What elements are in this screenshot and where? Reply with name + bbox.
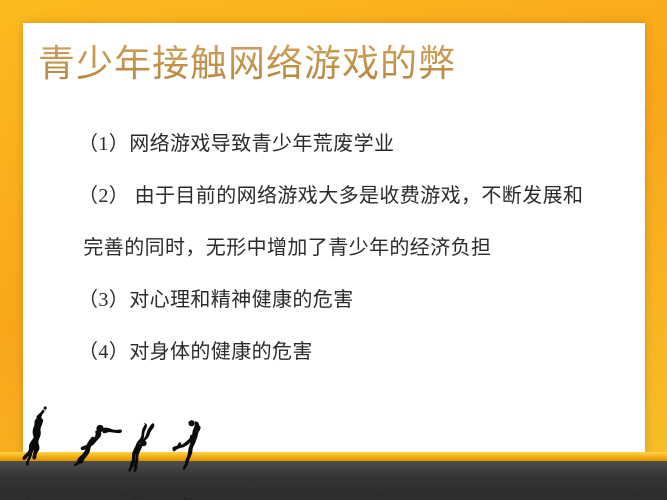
diving-dancer-icon (74, 425, 122, 466)
body-line: （2） 由于目前的网络游戏大多是收费游戏，不断发展和 (78, 170, 638, 222)
kicking-dancer-icon (172, 420, 200, 469)
presentation-slide: 青少年接触网络游戏的弊 （1）网络游戏导致青少年荒废学业 （2） 由于目前的网络… (0, 0, 667, 500)
handstand-dancer-icon (128, 423, 154, 472)
leaping-dancer-icon (23, 406, 47, 465)
body-line: 完善的同时，无形中增加了青少年的经济负担 (78, 222, 638, 274)
page-title: 青少年接触网络游戏的弊 (38, 41, 456, 89)
body-line: （4）对身体的健康的危害 (78, 326, 638, 378)
body-text-block: （1）网络游戏导致青少年荒废学业 （2） 由于目前的网络游戏大多是收费游戏，不断… (78, 118, 638, 378)
kicking-dancer-reflection (183, 496, 199, 500)
body-line: （1）网络游戏导致青少年荒废学业 (78, 118, 638, 170)
body-line: （3）对心理和精神健康的危害 (78, 274, 638, 326)
dancer-silhouettes (0, 390, 260, 500)
